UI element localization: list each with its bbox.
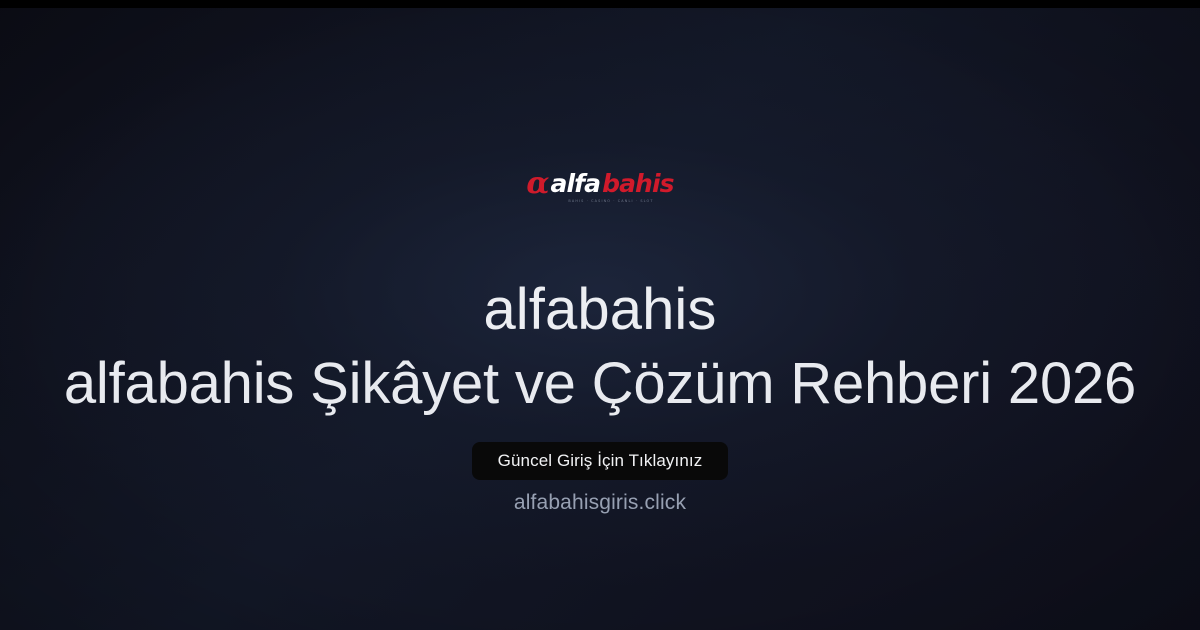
promo-banner: α alfa bahis BAHIS · CASINO · CANLI · SL… xyxy=(0,0,1200,630)
brand-name-second: bahis xyxy=(602,171,674,196)
brand-logo[interactable]: α alfa bahis BAHIS · CASINO · CANLI · SL… xyxy=(526,168,673,203)
alpha-symbol-icon: α xyxy=(526,169,548,199)
domain-container: alfabahisgiris.click xyxy=(0,491,1200,515)
domain-label: alfabahisgiris.click xyxy=(514,491,686,514)
brand-logo-row: α alfa bahis xyxy=(526,168,673,198)
current-login-button[interactable]: Güncel Giriş İçin Tıklayınız xyxy=(472,442,729,480)
brand-tagline: BAHIS · CASINO · CANLI · SLOT xyxy=(568,200,653,203)
cta-container: Güncel Giriş İçin Tıklayınız xyxy=(0,442,1200,480)
headline-block: alfabahis alfabahis Şikâyet ve Çözüm Reh… xyxy=(0,281,1200,413)
banner-content: α alfa bahis BAHIS · CASINO · CANLI · SL… xyxy=(0,0,1200,630)
page-title: alfabahis xyxy=(0,281,1200,339)
page-subtitle: alfabahis Şikâyet ve Çözüm Rehberi 2026 xyxy=(0,355,1200,413)
brand-name-first: alfa xyxy=(550,171,600,196)
